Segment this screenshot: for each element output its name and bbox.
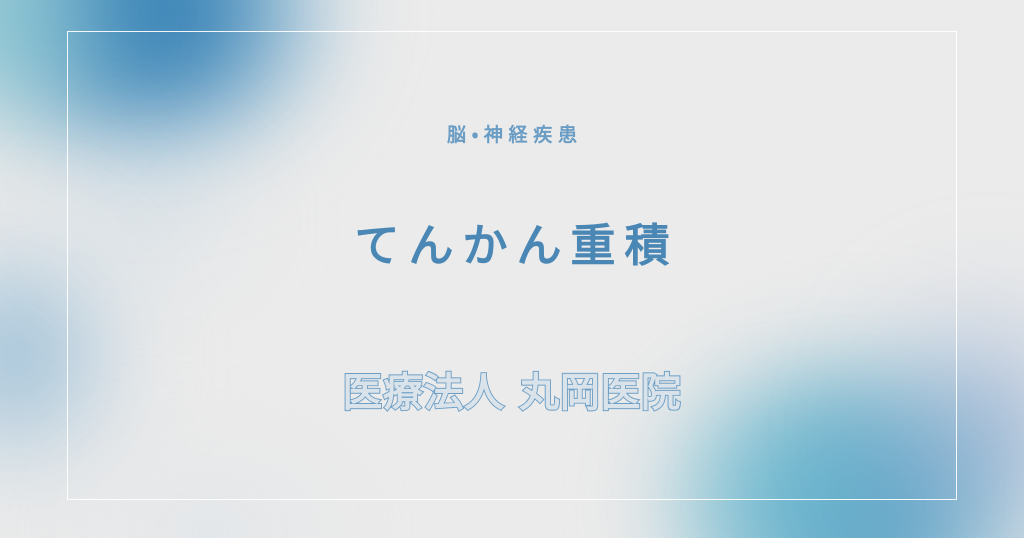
page-title: てんかん重積: [345, 221, 678, 271]
category-eyebrow: 脳・神経疾患: [441, 126, 582, 145]
eyecatch-card: 脳・神経疾患 てんかん重積 医療法人 丸岡医院: [0, 0, 1024, 538]
organization-name: 医療法人 丸岡医院: [342, 371, 681, 415]
hero-content: 脳・神経疾患 てんかん重積 医療法人 丸岡医院: [0, 0, 1024, 538]
